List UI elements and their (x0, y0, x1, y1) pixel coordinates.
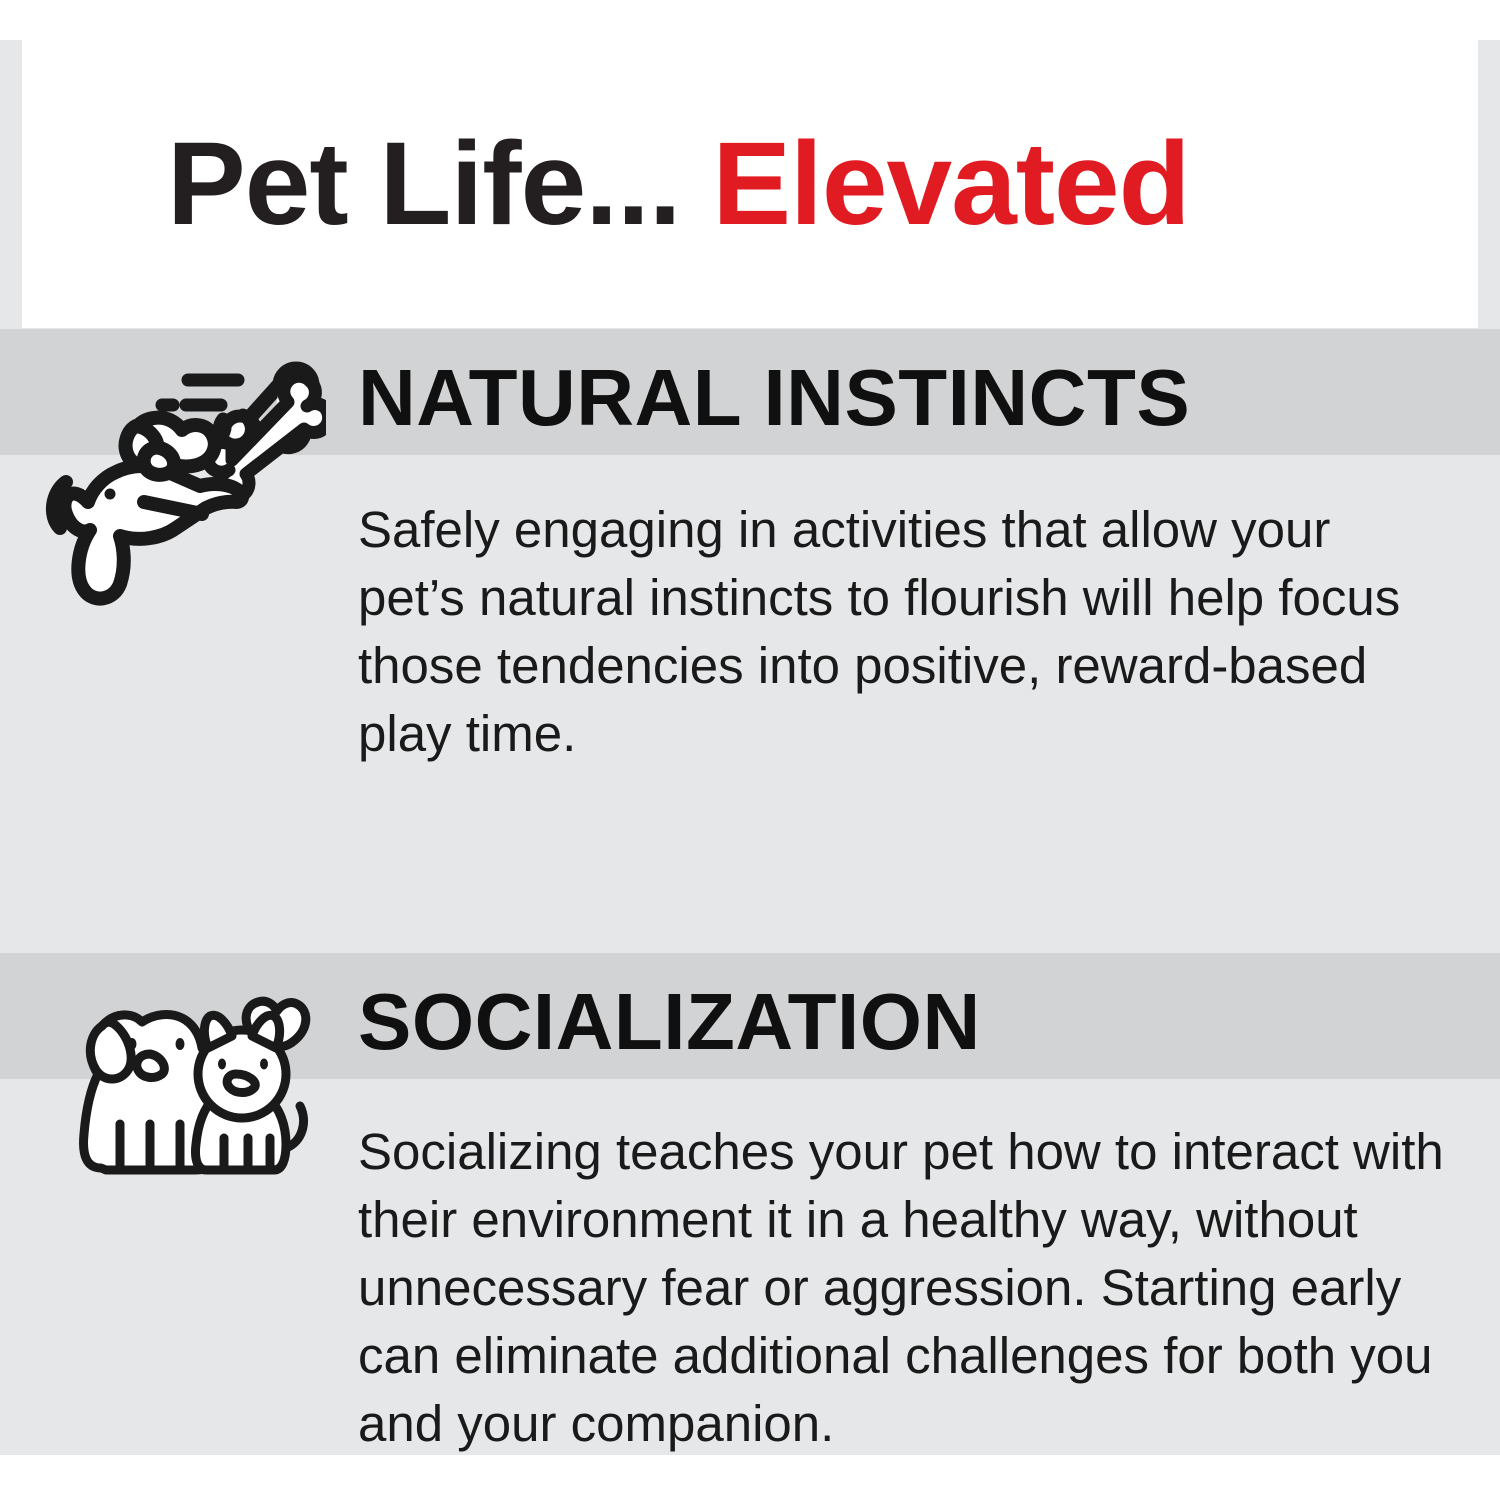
bottom-padding (0, 1455, 1500, 1500)
top-padding (0, 0, 1500, 40)
brand-title-accent: Elevated (712, 118, 1189, 250)
section-1-heading: NATURAL INSTINCTS (358, 358, 1190, 438)
dog-and-cat-with-heart-icon (58, 978, 343, 1193)
brand-title-dark: Pet Life... (167, 118, 681, 250)
dog-leaping-for-bone-icon (36, 352, 326, 607)
section-2-body-text: Socializing teaches your pet how to inte… (358, 1118, 1448, 1458)
page-title: Pet Life... Elevated (167, 125, 1190, 243)
section-1-body-text: Safely engaging in activities that allow… (358, 496, 1448, 768)
brand-header-card: Pet Life... Elevated (22, 40, 1478, 328)
infographic-page: Pet Life... Elevated (0, 0, 1500, 1500)
section-2-heading: SOCIALIZATION (358, 982, 981, 1062)
